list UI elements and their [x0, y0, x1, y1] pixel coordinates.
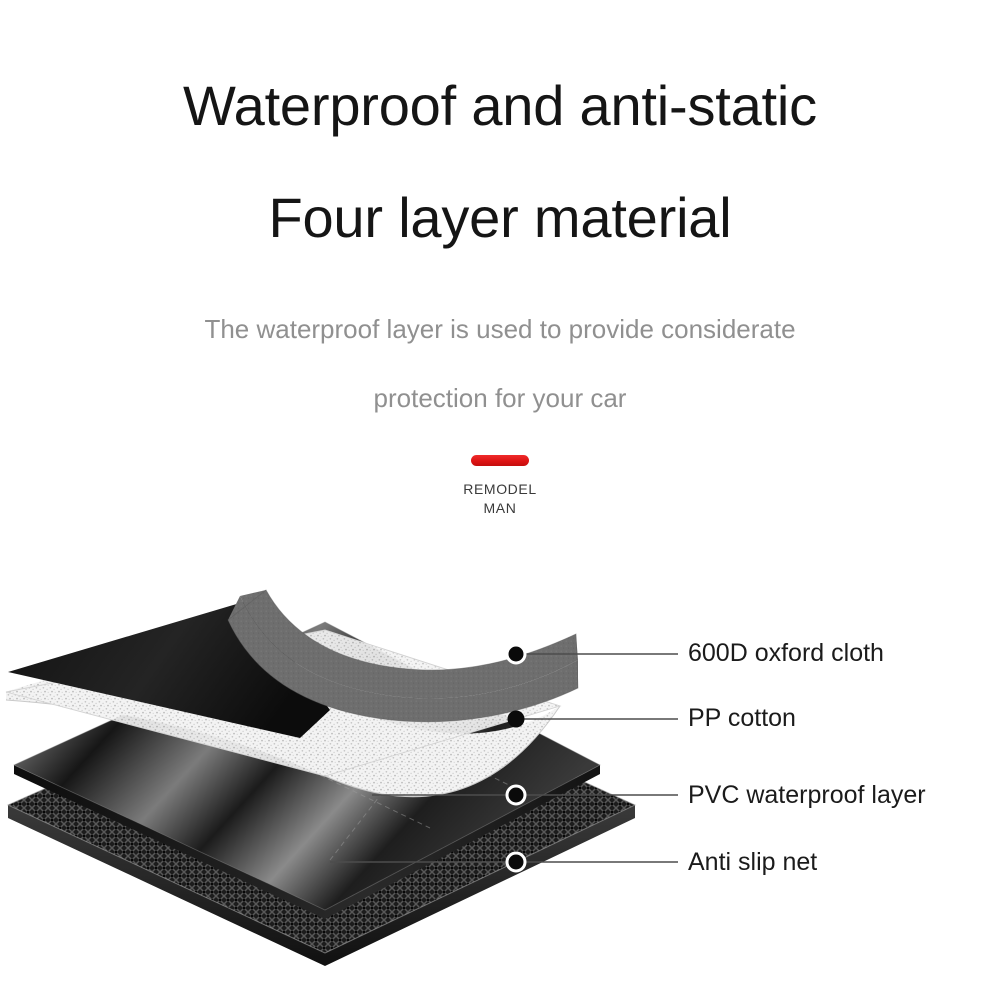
layer-diagram — [0, 560, 1000, 980]
infographic-page: Waterproof and anti-static Four layer ma… — [0, 0, 1000, 1000]
callout-label-pp-cotton: PP cotton — [688, 706, 796, 731]
headline-line-1: Waterproof and anti-static — [0, 78, 1000, 134]
brand-name-line-1: REMODEL — [0, 480, 1000, 499]
subheadline-line-2: protection for your car — [0, 385, 1000, 411]
marker-dot-600d-oxford-cloth — [507, 645, 525, 663]
callout-label-pvc-waterproof-layer: PVC waterproof layer — [688, 783, 926, 808]
marker-dot-pvc-waterproof-layer — [507, 786, 525, 804]
headline-line-2: Four layer material — [0, 190, 1000, 246]
callout-label-anti-slip-net: Anti slip net — [688, 850, 817, 875]
marker-dot-pp-cotton — [508, 711, 525, 728]
marker-dot-anti-slip-net — [507, 853, 525, 871]
subheadline-line-1: The waterproof layer is used to provide … — [0, 316, 1000, 342]
callout-label-600d-oxford-cloth: 600D oxford cloth — [688, 641, 884, 666]
brand-name: REMODEL MAN — [0, 480, 1000, 518]
brand-rule-divider — [471, 455, 529, 466]
brand-mark: REMODEL MAN — [0, 455, 1000, 518]
brand-name-line-2: MAN — [0, 499, 1000, 518]
